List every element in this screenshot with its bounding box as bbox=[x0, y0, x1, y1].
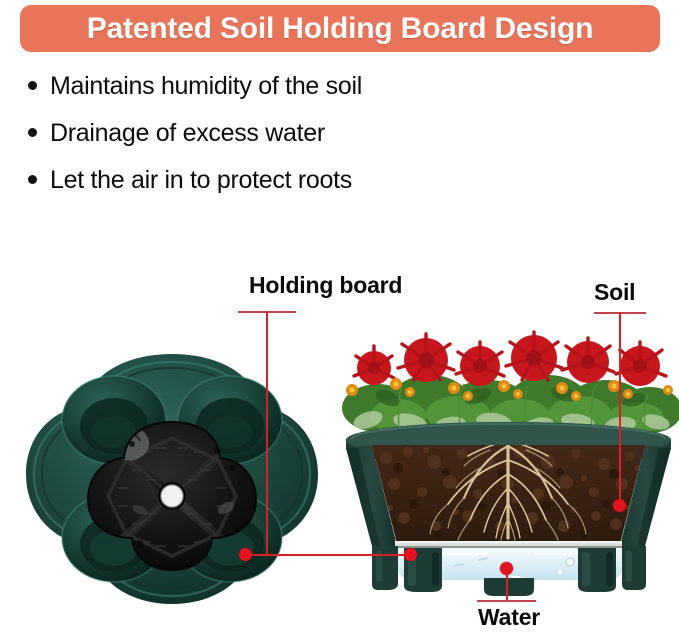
callout-label-water: Water bbox=[478, 606, 540, 629]
product-image-planter-cross-section bbox=[338, 322, 679, 600]
soil-layer bbox=[368, 434, 650, 548]
list-item: Drainage of excess water bbox=[28, 121, 588, 168]
callout-label-holding-board: Holding board bbox=[249, 274, 402, 297]
leader-dot-soil bbox=[613, 499, 626, 512]
callout-label-soil: Soil bbox=[594, 281, 635, 304]
infographic-canvas: Patented Soil Holding Board Design Maint… bbox=[0, 0, 679, 635]
list-item: Maintains humidity of the soil bbox=[28, 74, 588, 121]
leader-line-soil bbox=[619, 312, 621, 505]
leader-cap-water bbox=[477, 600, 536, 602]
product-image-clover-planter-top-view bbox=[22, 348, 322, 610]
leader-dot-holding-board-left bbox=[239, 548, 252, 561]
feature-list: Maintains humidity of the soil Drainage … bbox=[28, 74, 588, 215]
leader-line-holding-board-vertical bbox=[266, 311, 268, 556]
bullet-dot-icon bbox=[28, 175, 37, 184]
leader-dot-water bbox=[500, 562, 513, 575]
leader-dot-holding-board-right bbox=[404, 548, 417, 561]
feature-text: Let the air in to protect roots bbox=[50, 168, 352, 193]
feature-text: Drainage of excess water bbox=[50, 121, 325, 146]
bullet-dot-icon bbox=[28, 128, 37, 137]
flowers-group bbox=[342, 332, 679, 438]
feature-text: Maintains humidity of the soil bbox=[50, 74, 362, 99]
page-title: Patented Soil Holding Board Design bbox=[87, 14, 594, 44]
list-item: Let the air in to protect roots bbox=[28, 168, 588, 215]
bullet-dot-icon bbox=[28, 81, 37, 90]
header-banner: Patented Soil Holding Board Design bbox=[20, 5, 660, 52]
leader-line-holding-board-horizontal bbox=[245, 554, 413, 556]
